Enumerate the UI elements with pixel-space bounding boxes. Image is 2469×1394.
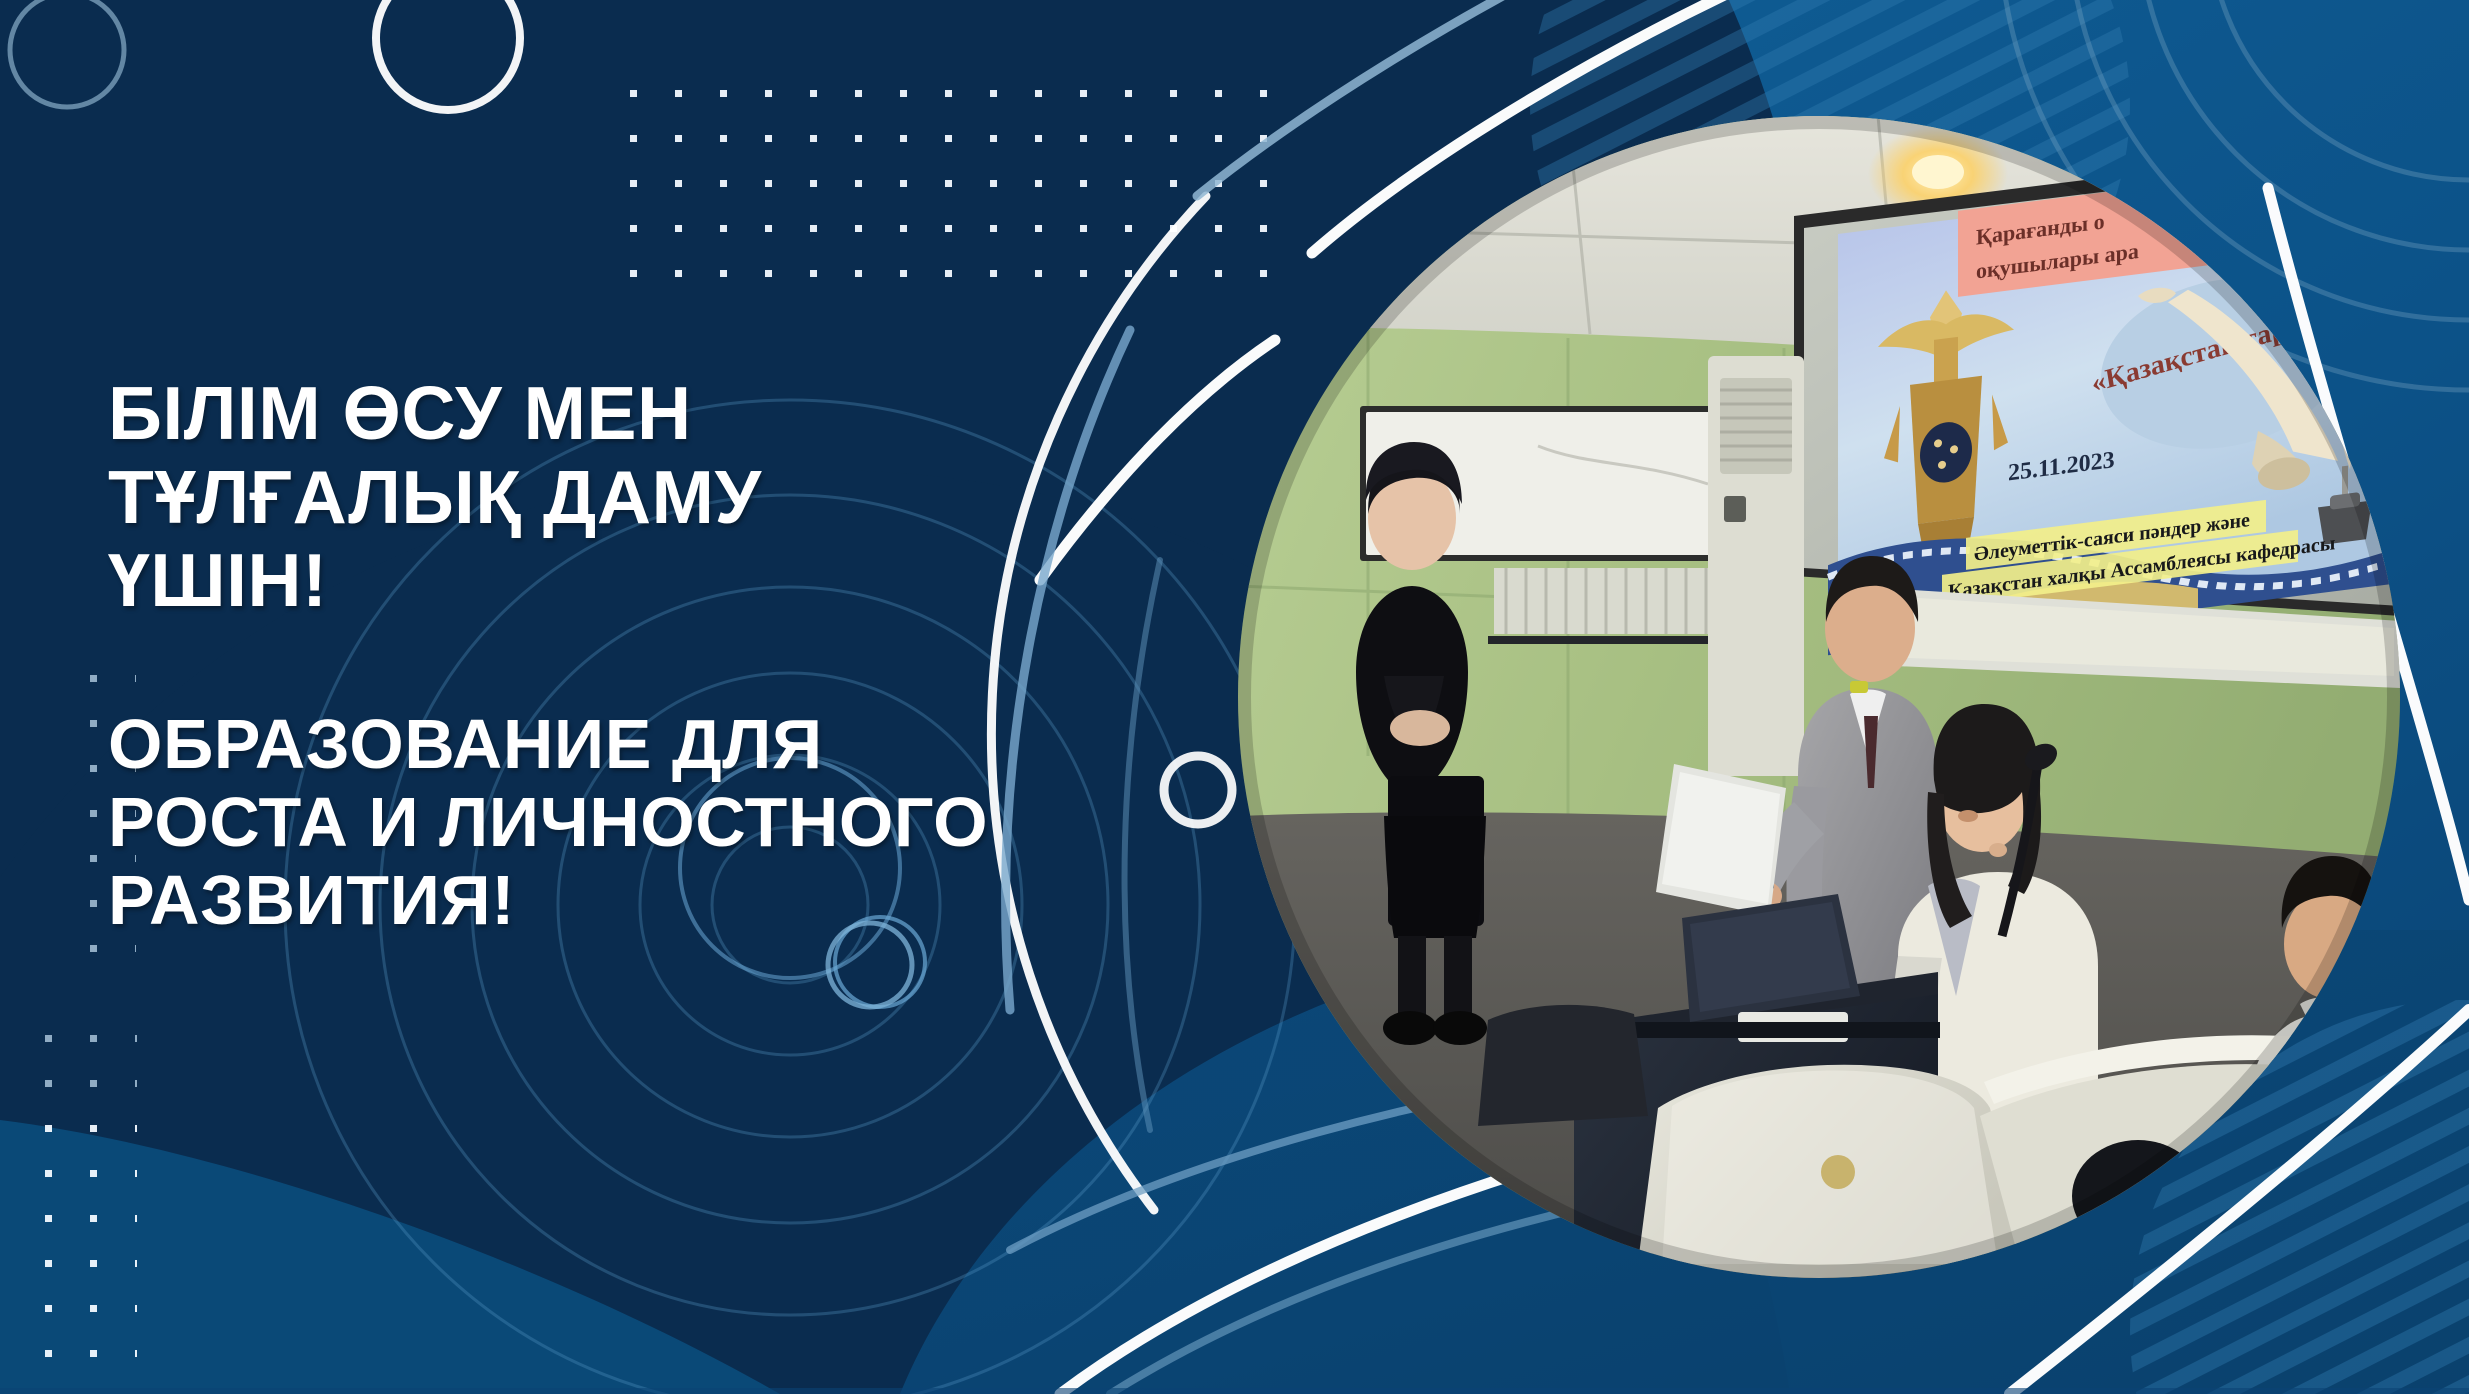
lapel-badge-icon (1850, 681, 1868, 693)
banner-slide: БІЛІМ ӨСУ МЕН ТҰЛҒАЛЫҚ ДАМУ ҮШІН! ОБРАЗО… (0, 0, 2469, 1394)
podium-emblem-icon (1821, 1155, 1855, 1189)
classroom-photo-illustration: Қарағанды о оқушылары ара (1238, 116, 2400, 1278)
bottom-hairline (0, 1388, 2469, 1394)
woman-hands (1390, 710, 1450, 746)
dot-grid-bottom-left-soft (27, 1000, 137, 1110)
air-conditioner (1708, 356, 1804, 776)
woman-earring-icon (1989, 843, 2007, 857)
dot-grid-bottom-left (27, 1090, 137, 1380)
dot-grid-left-column (88, 640, 136, 970)
dot-grid-top (627, 75, 1282, 315)
ceiling-lamp (1912, 155, 1964, 189)
chair-back (1478, 1005, 1648, 1126)
classroom-photo: Қарағанды о оқушылары ара (1238, 116, 2400, 1278)
